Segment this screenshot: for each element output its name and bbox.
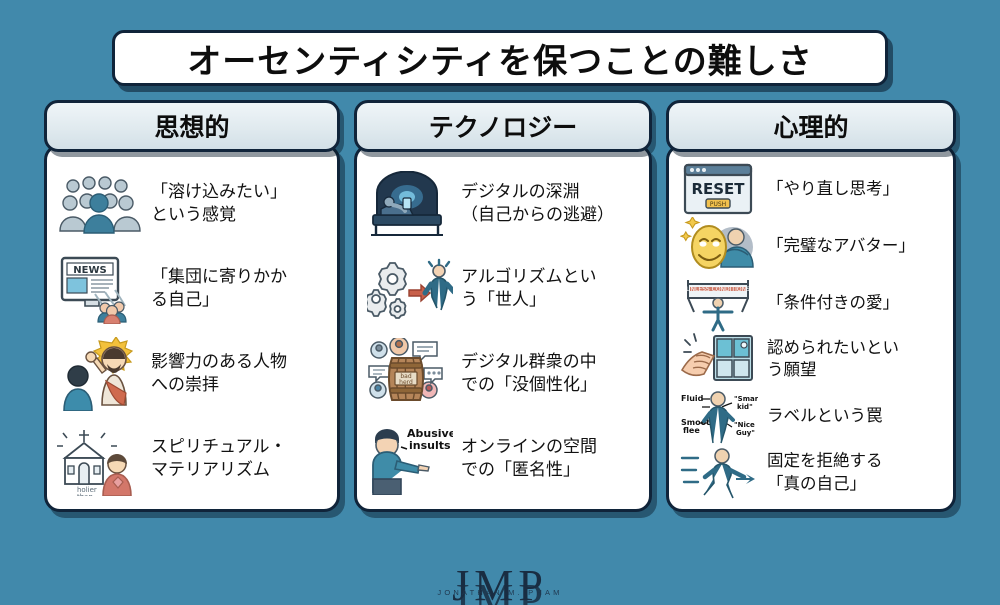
labels-person-icon: Fluid Smoot flee "Smart kid" "Nice Guy" (679, 387, 759, 445)
column-psychological: 心理的 RESET PUSH 「やり直し思考」 (666, 100, 956, 152)
column-body-psychological: RESET PUSH 「やり直し思考」 (666, 144, 956, 512)
svg-text:herd: herd (399, 379, 413, 386)
list-item-label: 「やり直し思考」 (767, 178, 899, 200)
church-materialism-icon: holier than (57, 422, 143, 496)
column-header-label: 思想的 (154, 108, 229, 144)
finish-line-icon: UNLESS CONDITIONS (679, 274, 759, 332)
list-item: デジタルの深淵 （自己からの逃避） (367, 167, 639, 241)
list-item-label: オンラインの空間 での「匿名性」 (461, 436, 597, 482)
applause-window-icon (679, 330, 759, 388)
svg-text:RESET: RESET (691, 180, 745, 198)
column-body-ideological: 「溶け込みたい」 という感覚 NEWS (44, 144, 340, 512)
column-header-technology: テクノロジー (354, 100, 652, 152)
svg-text:NEWS: NEWS (73, 265, 106, 276)
list-item: UNLESS CONDITIONS 「条件付きの愛」 (679, 274, 943, 331)
list-item: アルゴリズムとい う「世人」 (367, 252, 639, 326)
column-header-label: テクノロジー (429, 108, 578, 144)
list-item: RESET PUSH 「やり直し思考」 (679, 161, 943, 218)
column-header-ideological: 思想的 (44, 100, 340, 152)
list-item-label: スピリチュアル・ マテリアリズム (151, 436, 287, 482)
svg-text:Fluid: Fluid (681, 394, 704, 403)
svg-text:UNLESS CONDITIONS: UNLESS CONDITIONS (686, 286, 750, 293)
influencer-worship-icon (57, 337, 143, 411)
mask-avatar-icon (679, 217, 759, 275)
list-item: 「溶け込みたい」 という感覚 (57, 167, 327, 241)
logo-name-text: JONATHAN M. PHAM (437, 588, 562, 597)
page-title-banner: オーセンティシティを保つことの難しさ (112, 30, 888, 86)
list-item-label: アルゴリズムとい う「世人」 (461, 266, 597, 312)
list-item: 固定を拒絶する 「真の自己」 (679, 444, 943, 501)
phone-in-bed-icon (367, 167, 453, 241)
list-item-label: 「集団に寄りかか る自己」 (151, 266, 287, 312)
svg-text:PUSH: PUSH (710, 201, 726, 208)
column-header-psychological: 心理的 (666, 100, 956, 152)
list-item: NEWS 「集団に寄りかか (57, 252, 327, 326)
svg-text:flee: flee (683, 426, 700, 435)
news-monitor-icon: NEWS (57, 252, 143, 326)
list-item-label: デジタルの深淵 （自己からの逃避） (461, 181, 614, 227)
list-item-label: 「溶け込みたい」 という感覚 (151, 181, 287, 227)
running-person-icon (679, 444, 759, 502)
column-header-label: 心理的 (773, 108, 848, 144)
logo-stack: JMP JONATHAN M. PHAM JMP (437, 568, 562, 597)
list-item: Fluid Smoot flee "Smart kid" "Nice Guy" (679, 388, 943, 445)
footer-logo: JMP JONATHAN M. PHAM JMP (0, 568, 1000, 597)
column-technology: テクノロジー (354, 100, 652, 152)
page-title: オーセンティシティを保つことの難しさ (187, 34, 813, 83)
page-title-box: オーセンティシティを保つことの難しさ (112, 30, 888, 86)
list-item-label: 認められたいとい う願望 (767, 337, 899, 382)
reset-window-icon: RESET PUSH (679, 160, 759, 218)
svg-text:Guy": Guy" (736, 429, 755, 437)
column-ideological: 思想的 (44, 100, 340, 152)
svg-text:"Nice: "Nice (734, 421, 755, 429)
svg-text:kid": kid" (737, 403, 753, 411)
list-item-label: 「完璧なアバター」 (767, 235, 915, 257)
svg-text:insults: insults (409, 439, 451, 452)
list-item: bad herd デジタル群衆の中 での「没個性化」 (367, 337, 639, 411)
list-item-label: 影響力のある人物 への崇拝 (151, 351, 287, 397)
gears-walker-icon (367, 252, 453, 326)
columns-container: 思想的 (0, 100, 1000, 520)
barrel-crowd-icon: bad herd (367, 337, 453, 411)
list-item-label: 「条件付きの愛」 (767, 292, 899, 314)
list-item: holier than スピリチュアル・ マテリアリズム (57, 422, 327, 496)
list-item: 「完璧なアバター」 (679, 218, 943, 275)
list-item-label: ラベルという罠 (767, 405, 883, 427)
list-item-label: 固定を拒絶する 「真の自己」 (767, 450, 883, 495)
crowd-people-icon (57, 167, 143, 241)
list-item-label: デジタル群衆の中 での「没個性化」 (461, 351, 597, 397)
svg-text:"Smart: "Smart (734, 395, 758, 403)
list-item: Abusive insults オンラインの空間 での「匿名性」 (367, 422, 639, 496)
list-item: 認められたいとい う願望 (679, 331, 943, 388)
svg-text:than: than (77, 493, 93, 496)
column-body-technology: デジタルの深淵 （自己からの逃避） (354, 144, 652, 512)
abusive-insults-icon: Abusive insults (367, 422, 453, 496)
list-item: 影響力のある人物 への崇拝 (57, 337, 327, 411)
